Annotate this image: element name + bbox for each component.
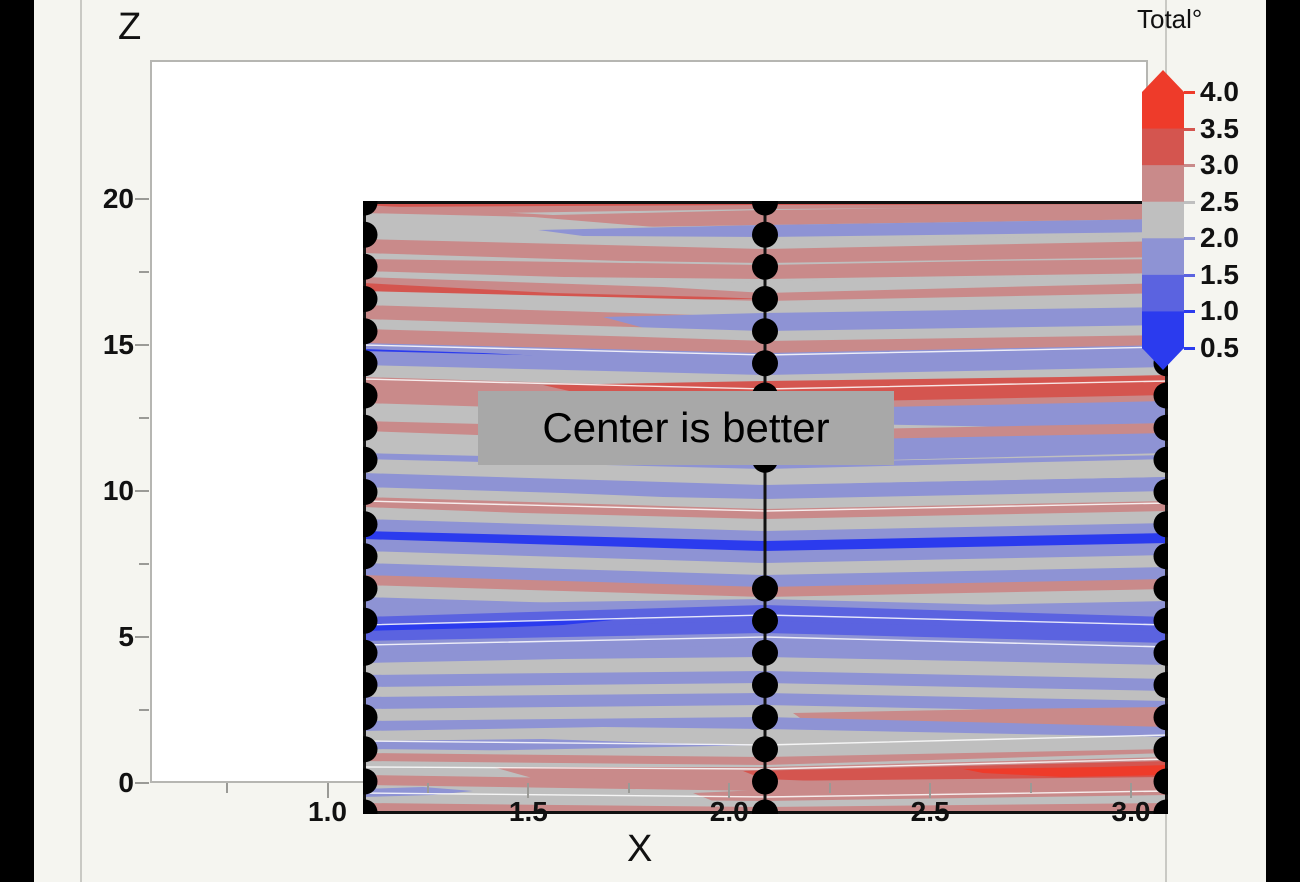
y-tick-label: 20 [103,183,134,215]
y-tick-mark-minor [139,709,149,711]
x-tick-mark-minor [628,783,630,793]
x-axis-title: X [627,828,652,871]
colorbar-tick-mark [1184,201,1195,204]
x-tick-label: 1.0 [308,796,347,828]
x-tick-mark [327,783,329,798]
figure-panel: Z X [34,0,1266,882]
y-axis-ticks: 05101520 [34,0,134,882]
colorbar-tick-mark [1184,91,1195,94]
colorbar-tick-label: 4.0 [1200,76,1239,108]
x-tick-label: 2.0 [710,796,749,828]
colorbar-tick-labels: 4.03.53.02.52.01.51.00.5 [1137,0,1297,882]
annotation-text: Center is better [542,407,829,449]
x-tick-mark [1130,783,1132,798]
y-tick-mark-minor [139,271,149,273]
contour-plot-area [363,201,1168,814]
colorbar-tick-mark [1184,237,1195,240]
colorbar-tick-mark [1184,310,1195,313]
colorbar-tick-label: 3.5 [1200,113,1239,145]
y-tick-mark [135,636,149,638]
y-tick-mark-minor [139,563,149,565]
colorbar-legend: Total° 4.03.53.02.52.01.51.00.5 [1137,0,1297,882]
y-tick-label: 15 [103,329,134,361]
colorbar-tick-label: 2.5 [1200,186,1239,218]
contour-bands-svg [363,201,1168,814]
colorbar-tick-label: 1.5 [1200,259,1239,291]
x-tick-mark-minor [427,783,429,793]
y-tick-mark-minor [139,417,149,419]
colorbar-tick-mark [1184,274,1195,277]
y-tick-mark [135,490,149,492]
annotation-box: Center is better [478,391,894,465]
colorbar-tick-label: 2.0 [1200,222,1239,254]
x-tick-mark [929,783,931,798]
x-tick-label: 1.5 [509,796,548,828]
colorbar-tick-mark [1184,164,1195,167]
y-tick-label: 5 [118,621,134,653]
colorbar-tick-label: 0.5 [1200,332,1239,364]
y-tick-mark [135,782,149,784]
x-tick-mark-minor [1030,783,1032,793]
y-tick-label: 0 [118,767,134,799]
x-tick-label: 2.5 [911,796,950,828]
y-tick-label: 10 [103,475,134,507]
x-tick-mark [728,783,730,798]
colorbar-tick-mark [1184,347,1195,350]
colorbar-tick-mark [1184,128,1195,131]
y-tick-mark [135,344,149,346]
colorbar-tick-label: 1.0 [1200,295,1239,327]
screenshot-root: Z X [0,0,1300,882]
colorbar-tick-label: 3.0 [1200,149,1239,181]
x-tick-mark [527,783,529,798]
y-tick-mark [135,198,149,200]
x-tick-mark-minor [226,783,228,793]
x-tick-mark-minor [829,783,831,793]
